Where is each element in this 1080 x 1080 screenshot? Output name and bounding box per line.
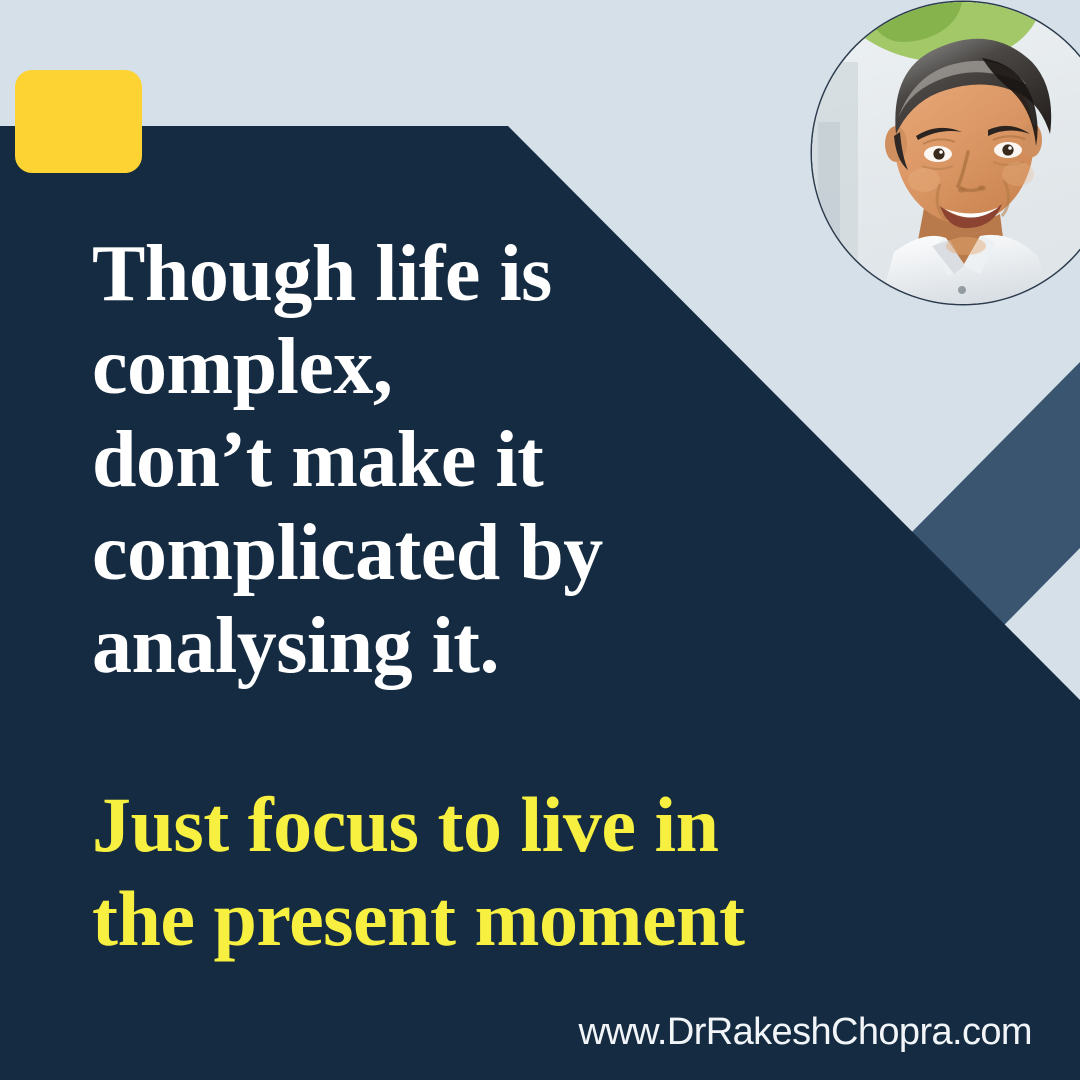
portrait-avatar — [812, 2, 1080, 304]
quote-line: don’t make it — [92, 414, 852, 507]
quote-line: complex, — [92, 321, 852, 414]
quote-line: analysing it. — [92, 600, 852, 693]
punchline-line: the present moment — [92, 872, 1032, 966]
quote-line: Though life is — [92, 228, 852, 321]
quote-card: Though life is complex, don’t make it co… — [0, 0, 1080, 1080]
punchline-text: Just focus to live in the present moment — [92, 778, 1032, 966]
punchline-line: Just focus to live in — [92, 778, 1032, 872]
quote-line: complicated by — [92, 507, 852, 600]
yellow-rounded-square — [15, 70, 142, 173]
website-url[interactable]: www.DrRakeshChopra.com — [578, 1011, 1032, 1054]
portrait-illustration — [812, 2, 1080, 304]
quote-text: Though life is complex, don’t make it co… — [92, 228, 852, 693]
